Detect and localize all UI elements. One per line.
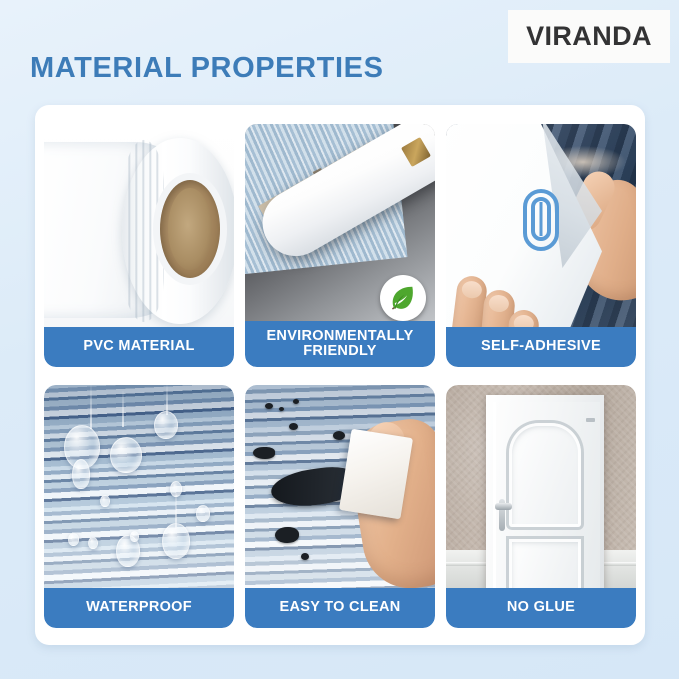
eco-badge (380, 275, 426, 321)
feature-card-pvc-material[interactable]: PVC MATERIAL (44, 124, 234, 367)
waterproof-image (44, 385, 234, 596)
leaf-icon (388, 283, 418, 313)
feature-grid: PVC MATERIAL ENVIRONME (44, 124, 636, 628)
environmentally-friendly-image (245, 124, 435, 335)
feature-card-environmentally-friendly[interactable]: ENVIRONMENTALLY FRIENDLY (245, 124, 435, 367)
pvc-material-image (44, 124, 234, 335)
no-glue-image (446, 385, 636, 596)
feature-card-no-glue[interactable]: NO GLUE (446, 385, 636, 628)
paperclip-badge (520, 186, 562, 259)
feature-card-self-adhesive[interactable]: SELF-ADHESIVE (446, 124, 636, 367)
feature-card-easy-to-clean[interactable]: EASY TO CLEAN (245, 385, 435, 628)
feature-label-no-glue: NO GLUE (446, 588, 636, 628)
easy-to-clean-image (245, 385, 435, 596)
feature-label-pvc-material: PVC MATERIAL (44, 327, 234, 367)
infographic-stage: VIRANDA MATERIAL PROPERTIES PVC MATERIAL (0, 0, 679, 679)
brand-logo: VIRANDA (508, 10, 670, 63)
feature-label-easy-to-clean: EASY TO CLEAN (245, 588, 435, 628)
feature-card-waterproof[interactable]: WATERPROOF (44, 385, 234, 628)
feature-label-waterproof: WATERPROOF (44, 588, 234, 628)
feature-label-environmentally-friendly: ENVIRONMENTALLY FRIENDLY (245, 321, 435, 367)
page-title: MATERIAL PROPERTIES (30, 52, 384, 85)
brand-logo-text: VIRANDA (526, 21, 652, 52)
self-adhesive-image (446, 124, 636, 335)
paperclip-icon (520, 186, 562, 254)
feature-label-self-adhesive: SELF-ADHESIVE (446, 327, 636, 367)
